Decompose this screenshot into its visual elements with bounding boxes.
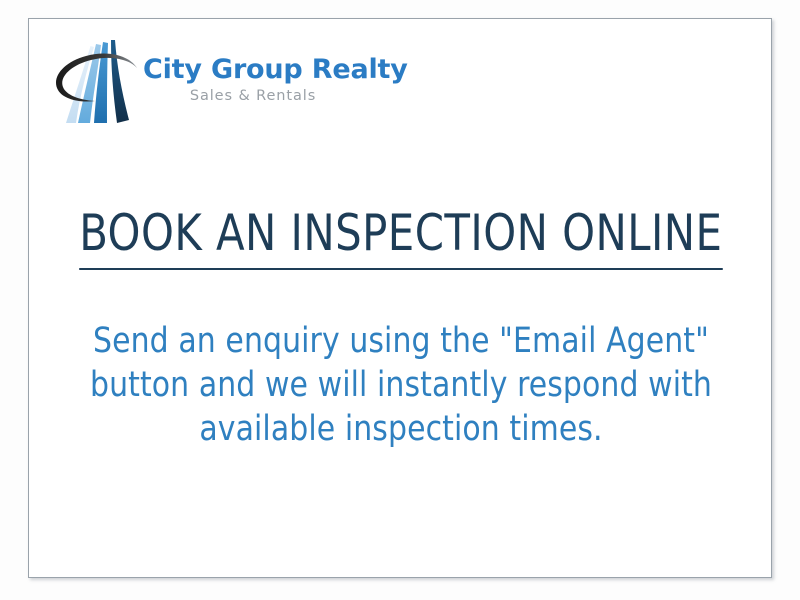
headline-container: BOOK AN INSPECTION ONLINE bbox=[29, 205, 773, 270]
brand-logo: City Group Realty Sales & Rentals bbox=[41, 29, 371, 134]
brand-name: City Group Realty bbox=[143, 55, 373, 85]
swoosh-logo-icon bbox=[49, 37, 149, 129]
body-line-2: button and we will instantly respond wit… bbox=[48, 363, 755, 407]
body-line-1: Send an enquiry using the "Email Agent" bbox=[48, 319, 755, 363]
body-line-3: available inspection times. bbox=[48, 407, 755, 451]
slide-headline: BOOK AN INSPECTION ONLINE bbox=[79, 205, 722, 270]
presentation-slide: City Group Realty Sales & Rentals BOOK A… bbox=[28, 18, 772, 578]
brand-wordmark: City Group Realty Sales & Rentals bbox=[143, 55, 373, 105]
body-container: Send an enquiry using the "Email Agent" … bbox=[29, 319, 773, 451]
screenshot-canvas: City Group Realty Sales & Rentals BOOK A… bbox=[0, 0, 800, 600]
brand-tagline: Sales & Rentals bbox=[143, 87, 373, 105]
